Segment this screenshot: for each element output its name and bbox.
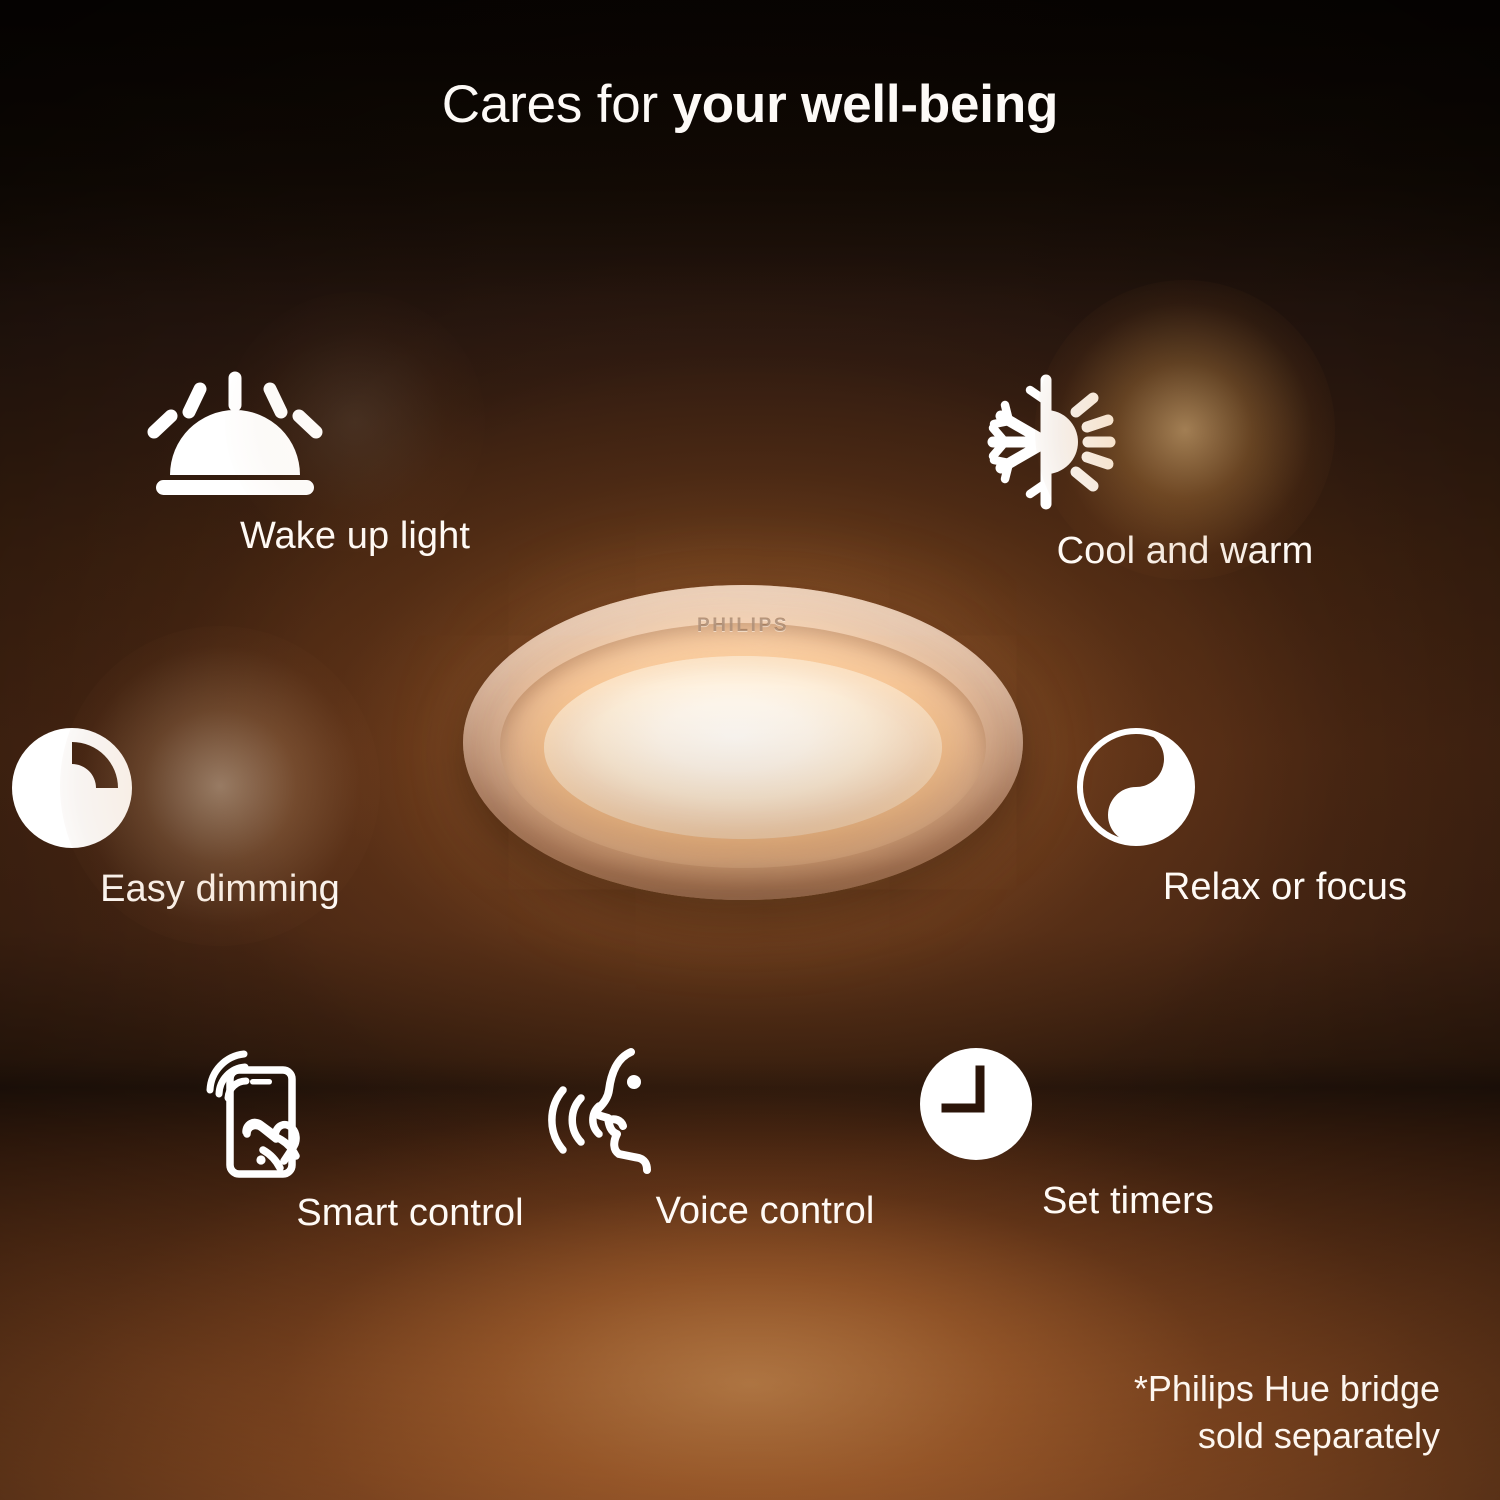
speaking-face-icon <box>555 1046 975 1172</box>
product-light-diffuser <box>544 656 942 839</box>
snowflake-sun-icon <box>975 372 1395 512</box>
feature-set-timers: Set timers <box>918 1046 1338 1223</box>
feature-label-easy-dimming: Easy dimming <box>10 868 430 911</box>
philips-downlight-product: PHILIPS <box>463 585 1023 900</box>
feature-label-relax-or-focus: Relax or focus <box>1075 866 1495 909</box>
dimmer-dial-icon <box>10 726 430 850</box>
feature-label-voice-control: Voice control <box>555 1190 975 1233</box>
feature-label-set-timers: Set timers <box>918 1180 1338 1223</box>
clock-icon <box>918 1046 1338 1162</box>
feature-relax-or-focus: Relax or focus <box>1075 726 1495 909</box>
feature-wake-up-light: Wake up light <box>145 372 565 558</box>
footnote-disclaimer: *Philips Hue bridge sold separately <box>1134 1365 1440 1460</box>
feature-voice-control: Voice control <box>555 1046 975 1233</box>
sunrise-icon <box>145 372 565 497</box>
headline-regular: Cares for <box>442 75 673 134</box>
feature-cool-and-warm: Cool and warm <box>975 372 1395 573</box>
feature-easy-dimming: Easy dimming <box>10 726 430 911</box>
yin-yang-icon <box>1075 726 1495 848</box>
feature-label-wake-up-light: Wake up light <box>145 515 565 558</box>
product-feature-board: Cares for your well-being PHILIPS <box>0 0 1500 1500</box>
page-title: Cares for your well-being <box>0 76 1500 134</box>
headline-bold: your well-being <box>672 75 1058 134</box>
feature-label-cool-and-warm: Cool and warm <box>975 530 1395 573</box>
